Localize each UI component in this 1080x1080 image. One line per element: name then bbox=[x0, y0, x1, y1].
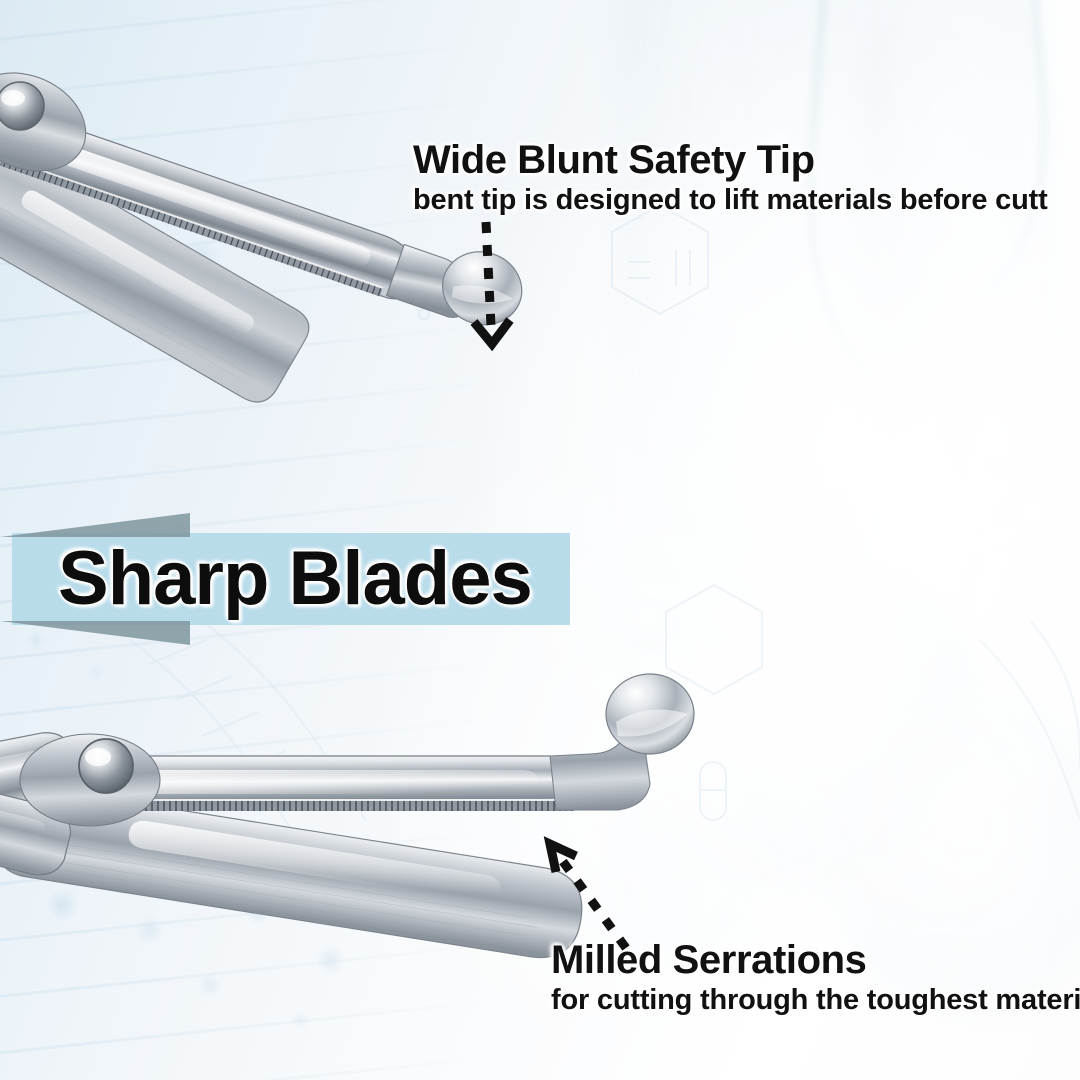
callout-top-title: Wide Blunt Safety Tip bbox=[413, 140, 1048, 181]
up-left-arrow-icon bbox=[520, 826, 650, 956]
scissors-bottom bbox=[0, 660, 770, 960]
banner-label: Sharp Blades bbox=[12, 541, 532, 617]
sharp-blades-banner: Sharp Blades bbox=[12, 533, 570, 625]
infographic-canvas: Sharp Blades Wide Blunt Safety Tip bent … bbox=[0, 0, 1080, 1080]
pivot-screw-top-icon bbox=[0, 82, 44, 130]
callout-top-subtitle: bent tip is designed to lift materials b… bbox=[413, 185, 1048, 215]
banner-accent-triangle-bottom bbox=[0, 621, 190, 647]
callout-wide-blunt-safety-tip: Wide Blunt Safety Tip bent tip is design… bbox=[413, 140, 1048, 215]
pivot-screw-bottom-icon bbox=[79, 739, 133, 793]
scissors-top bbox=[0, 40, 640, 510]
banner-accent-triangle-top bbox=[0, 511, 190, 537]
callout-bottom-subtitle: for cutting through the toughest materia… bbox=[551, 985, 1080, 1015]
down-arrow-icon bbox=[460, 218, 530, 348]
